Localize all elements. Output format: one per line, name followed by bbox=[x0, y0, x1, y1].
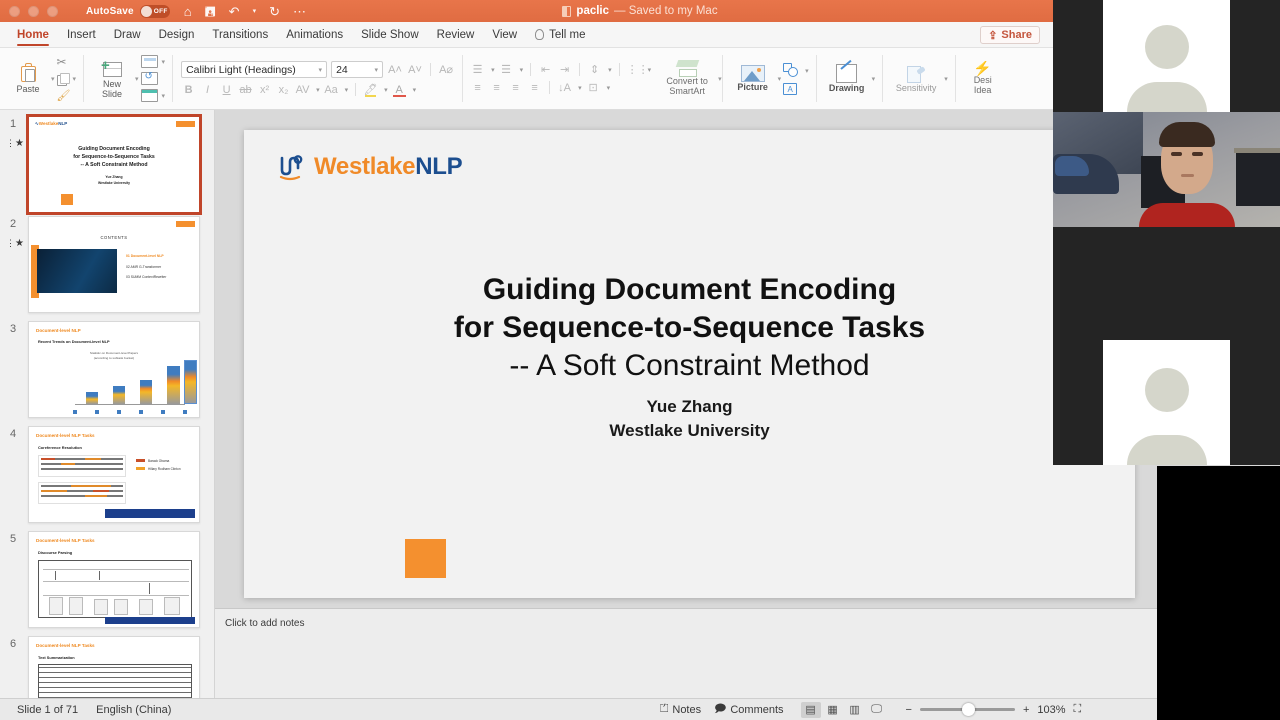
language-indicator[interactable]: English (China) bbox=[96, 704, 171, 716]
avatar-body-icon bbox=[1127, 82, 1207, 112]
participant-2-mouth bbox=[1181, 174, 1194, 177]
slide-number-6: 6 bbox=[0, 636, 26, 650]
picture-dropdown-icon[interactable]: ▾ bbox=[778, 75, 782, 83]
video-conference-panel[interactable] bbox=[1053, 0, 1280, 465]
divider bbox=[579, 63, 580, 76]
autosave-state: OFF bbox=[154, 8, 168, 15]
normal-view-button[interactable]: ▤ bbox=[801, 702, 821, 718]
chevron-down-icon: ▾ bbox=[319, 66, 323, 74]
video-tile-participant-4[interactable] bbox=[1053, 340, 1280, 465]
design-ideas-button[interactable]: ⚡ Desi Idea bbox=[963, 61, 1003, 96]
bullet-dropdown-icon[interactable]: ▾ bbox=[491, 66, 495, 74]
notes-icon: ⏍ bbox=[660, 703, 668, 716]
thumb-1-title-3: -- A Soft Constraint Method bbox=[29, 161, 199, 169]
slide-thumbnail-4[interactable]: Document-level NLP Tasks Coreference Res… bbox=[28, 426, 200, 523]
text-box-button[interactable]: A bbox=[783, 83, 809, 95]
drawing-label: Drawing bbox=[829, 83, 865, 93]
westlake-logo-icon bbox=[277, 152, 307, 182]
character-spacing-button[interactable]: AV bbox=[295, 84, 310, 96]
shapes-dropdown-icon[interactable]: ▾ bbox=[805, 67, 809, 75]
smartart-icon bbox=[675, 60, 700, 77]
participant-2-eye-right bbox=[1192, 152, 1203, 156]
toggle-knob bbox=[141, 6, 152, 17]
new-slide-dropdown-icon[interactable]: ▾ bbox=[135, 75, 139, 83]
convert-label-1: Convert to bbox=[666, 76, 708, 86]
video-tile-participant-1[interactable] bbox=[1053, 0, 1280, 112]
slide-author-affiliation: Westlake University bbox=[244, 419, 1135, 443]
thumbnail-row-5[interactable]: 5 Document-level NLP Tasks Discourse Par… bbox=[0, 525, 214, 630]
drawing-icon bbox=[836, 64, 857, 83]
slide-number-5: 5 bbox=[0, 531, 26, 545]
design-ideas-label-2: Idea bbox=[974, 85, 992, 95]
thumb-3-header: Document-level NLP bbox=[36, 328, 81, 333]
layout-button[interactable]: ▾ bbox=[141, 55, 166, 68]
slide-author-name: Yue Zhang bbox=[244, 395, 1135, 419]
drawing-button[interactable]: Drawing bbox=[824, 64, 870, 93]
minimize-window-button[interactable] bbox=[28, 6, 39, 17]
paragraph-row-2: ≡ ≡ ≡ ≡ ↓A ▾ ⊡ ▾ bbox=[470, 81, 651, 94]
fit-to-window-button[interactable]: ⛶ bbox=[1074, 703, 1082, 716]
design-ideas-label-1: Desi bbox=[974, 75, 992, 85]
zoom-out-button[interactable]: − bbox=[906, 704, 912, 716]
thumb-2-image bbox=[37, 249, 117, 293]
quick-access-toolbar: ⌂ 🖪 ↶ ▾ ↻ ⋯ bbox=[184, 5, 306, 18]
slide-title-line-1: Guiding Document Encoding bbox=[244, 271, 1135, 309]
slide-mini-buttons: ▾ ▾ bbox=[141, 55, 166, 102]
notes-button[interactable]: ⏍ Notes bbox=[660, 703, 701, 716]
new-slide-label-2: Slide bbox=[102, 89, 122, 99]
divider bbox=[619, 63, 620, 76]
slide-2-animation-marks: ⋮★ bbox=[6, 238, 24, 249]
new-slide-button[interactable]: + NewSlide bbox=[91, 58, 133, 99]
clear-formatting-button[interactable]: A⌀ bbox=[438, 63, 454, 76]
format-painter-button[interactable]: 🖌 bbox=[57, 89, 77, 102]
sensitivity-dropdown-icon[interactable]: ▾ bbox=[944, 75, 948, 83]
paragraph-row-1: ☰ ▾ ☰ ▾ ⇤ ⇥ ⇕ ▾ ⋮⋮ ▾ bbox=[470, 63, 651, 76]
autosave-toggle[interactable]: OFF bbox=[140, 5, 170, 18]
notes-placeholder: Click to add notes bbox=[225, 618, 305, 629]
justify-button[interactable]: ≡ bbox=[527, 82, 542, 94]
tell-me-label: Tell me bbox=[549, 29, 585, 41]
presenter-view-button[interactable]: 🖵 bbox=[867, 702, 887, 718]
paragraph-group: ☰ ▾ ☰ ▾ ⇤ ⇥ ⇕ ▾ ⋮⋮ ▾ ≡ ≡ ≡ ≡ ↓A bbox=[463, 48, 658, 109]
avatar-head-icon bbox=[1145, 368, 1189, 412]
text-direction-dropdown-icon[interactable]: ▾ bbox=[578, 84, 582, 92]
participant-2-eye-left bbox=[1171, 152, 1182, 156]
superscript-button[interactable]: x² bbox=[257, 84, 272, 96]
clipboard-mini-buttons: ✂ ▾ 🖌 bbox=[57, 55, 77, 102]
thumb-5-tree-diagram bbox=[38, 560, 192, 618]
zoom-control[interactable]: − + 103% ⛶ bbox=[906, 703, 1082, 716]
slides-group: + NewSlide ▾ ▾ ▾ bbox=[84, 48, 172, 109]
document-save-status: — Saved to my Mac bbox=[614, 5, 718, 17]
divider bbox=[549, 81, 550, 94]
autosave-control[interactable]: AutoSave OFF bbox=[86, 5, 170, 18]
underline-button[interactable]: U bbox=[219, 84, 234, 96]
thumb-2-item-1: 01 Document-level NLP bbox=[126, 251, 166, 262]
sensitivity-icon bbox=[907, 65, 926, 83]
thumb-6-header: Document-level NLP Tasks bbox=[36, 643, 95, 648]
slide-number-4: 4 bbox=[0, 426, 26, 440]
align-right-button[interactable]: ≡ bbox=[508, 82, 523, 94]
thumb-2-item-3: 03 SUMM ContextRewriter bbox=[126, 272, 166, 283]
text-box-icon: A bbox=[783, 83, 797, 95]
status-left: Slide 1 of 71 English (China) bbox=[17, 704, 171, 716]
avatar-placeholder-4 bbox=[1103, 340, 1230, 465]
columns-button[interactable]: ⋮⋮ bbox=[627, 63, 642, 76]
reset-icon bbox=[141, 72, 158, 85]
picture-icon bbox=[741, 65, 765, 82]
slide-number-2: 2 bbox=[0, 216, 26, 230]
notes-button-label: Notes bbox=[672, 704, 701, 716]
font-group: Calibri Light (Headings) ▾ 24 ▾ A˄ A˅ A⌀… bbox=[173, 48, 462, 109]
line-spacing-dropdown-icon[interactable]: ▾ bbox=[608, 66, 612, 74]
transition-icon: ⋮ bbox=[6, 138, 15, 148]
thumb-1-accent-bl bbox=[61, 194, 73, 205]
thumbnail-row-2[interactable]: 2 ⋮★ CONTENTS 01 Document-level NLP 02 A… bbox=[0, 210, 214, 315]
font-color-dropdown-icon[interactable]: ▾ bbox=[413, 86, 417, 94]
participant-2-shirt bbox=[1139, 203, 1235, 227]
paste-dropdown-icon[interactable]: ▾ bbox=[51, 75, 55, 83]
columns-dropdown-icon[interactable]: ▾ bbox=[648, 66, 652, 74]
participant-2-hair bbox=[1159, 122, 1215, 147]
thumb-6-text-block bbox=[38, 664, 192, 698]
bullet-list-button[interactable]: ☰ bbox=[470, 63, 485, 76]
slide-title-line-3: -- A Soft Constraint Method bbox=[244, 347, 1135, 385]
slide-title[interactable]: Guiding Document Encoding for Sequence-t… bbox=[244, 271, 1135, 385]
share-button[interactable]: ⇪ Share bbox=[980, 26, 1040, 44]
italic-button[interactable]: I bbox=[200, 84, 215, 96]
sensitivity-group: Sensitivity ▾ bbox=[883, 48, 955, 109]
character-spacing-dropdown-icon[interactable]: ▾ bbox=[316, 86, 320, 94]
new-slide-icon: + bbox=[101, 58, 123, 78]
bold-button[interactable]: B bbox=[181, 84, 196, 96]
thumb-1-title-1: Guiding Document Encoding bbox=[29, 145, 199, 153]
logo-text-westlake: Westlake bbox=[314, 153, 415, 180]
notes-pane[interactable]: Click to add notes bbox=[215, 608, 1280, 698]
reset-button[interactable] bbox=[141, 72, 166, 85]
align-text-button[interactable]: ⊡ bbox=[586, 81, 601, 94]
thumb-5-header: Document-level NLP Tasks bbox=[36, 538, 95, 543]
thumb-2-item-2: 02 AMR G-Transformer bbox=[126, 262, 166, 273]
cut-button[interactable]: ✂ bbox=[57, 55, 77, 69]
avatar-body-icon bbox=[1127, 435, 1207, 465]
tab-review[interactable]: Review bbox=[428, 22, 484, 48]
tab-tell-me[interactable]: Tell me bbox=[526, 22, 594, 48]
share-label: Share bbox=[1001, 29, 1032, 41]
section-dropdown-icon[interactable]: ▾ bbox=[162, 92, 166, 100]
zoom-slider[interactable] bbox=[920, 708, 1015, 711]
avatar-placeholder-1 bbox=[1103, 0, 1230, 112]
slide-1-animation-marks: ⋮★ bbox=[6, 138, 24, 149]
font-color-button[interactable]: A bbox=[392, 84, 407, 96]
thumb-4-legend-2: Hillary Rodham Clinton bbox=[148, 467, 181, 471]
tab-insert[interactable]: Insert bbox=[58, 22, 105, 48]
text-direction-button[interactable]: ↓A bbox=[557, 82, 572, 94]
slide-logo: WestlakeNLP bbox=[277, 152, 462, 182]
transition-icon: ⋮ bbox=[6, 238, 15, 248]
thumb-1-accent-tr bbox=[176, 121, 195, 127]
layout-icon bbox=[141, 55, 158, 68]
thumb-4-text-box-2 bbox=[38, 482, 126, 504]
sensitivity-button[interactable]: Sensitivity bbox=[890, 65, 942, 93]
tab-view[interactable]: View bbox=[483, 22, 526, 48]
undo-icon[interactable]: ↶ bbox=[229, 5, 240, 18]
thumb-2-accent-tr bbox=[176, 221, 195, 227]
tab-transitions[interactable]: Transitions bbox=[203, 22, 277, 48]
paste-label: Paste bbox=[16, 85, 39, 94]
slide-number-3: 3 bbox=[0, 321, 26, 335]
thumbnail-row-4[interactable]: 4 Document-level NLP Tasks Coreference R… bbox=[0, 420, 214, 525]
more-options-icon[interactable]: ⋯ bbox=[293, 5, 306, 18]
slide-accent-bottom-left bbox=[405, 539, 446, 578]
convert-label-2: SmartArt bbox=[669, 86, 705, 96]
copy-dropdown-icon[interactable]: ▾ bbox=[73, 75, 77, 83]
save-icon[interactable]: 🖪 bbox=[205, 5, 216, 18]
slide-thumbnail-pane[interactable]: 1 ⋮★ ∿WestlakeNLP Guiding Document Encod… bbox=[0, 110, 215, 698]
insert-group: Picture ▾ ▾ A bbox=[723, 48, 816, 109]
tab-slide-show[interactable]: Slide Show bbox=[352, 22, 428, 48]
slide-thumbnail-3[interactable]: Document-level NLP Recent Trends on Docu… bbox=[28, 321, 200, 418]
thumb-6-subheader: Text Summarization bbox=[38, 655, 75, 660]
star-icon: ★ bbox=[15, 138, 24, 149]
slide-thumbnail-1[interactable]: ∿WestlakeNLP Guiding Document Encoding f… bbox=[28, 116, 200, 213]
redo-icon[interactable]: ↻ bbox=[269, 5, 280, 18]
shapes-button[interactable]: ▾ bbox=[783, 62, 809, 79]
paintbrush-icon: 🖌 bbox=[57, 89, 71, 102]
maximize-window-button[interactable] bbox=[47, 6, 58, 17]
line-spacing-button[interactable]: ⇕ bbox=[587, 63, 602, 76]
chevron-down-icon: ▾ bbox=[375, 66, 379, 74]
undo-dropdown-icon[interactable]: ▾ bbox=[253, 8, 257, 15]
zoom-in-button[interactable]: + bbox=[1023, 704, 1029, 716]
copy-icon bbox=[57, 73, 69, 85]
slide-title-line-2: for Sequence-to-Sequence Tasks bbox=[244, 309, 1135, 347]
divider bbox=[355, 83, 356, 96]
zoom-slider-handle[interactable] bbox=[962, 703, 975, 716]
share-icon: ⇪ bbox=[988, 29, 997, 42]
align-left-button[interactable]: ≡ bbox=[470, 82, 485, 94]
view-switcher: ▤ ▦ ▥ 🖵 bbox=[801, 702, 887, 718]
slide-thumbnail-5[interactable]: Document-level NLP Tasks Discourse Parsi… bbox=[28, 531, 200, 628]
autosave-label: AutoSave bbox=[86, 6, 134, 17]
design-ideas-group: ⚡ Desi Idea bbox=[956, 48, 1010, 109]
star-icon: ★ bbox=[15, 238, 24, 249]
black-overlay-region bbox=[1157, 466, 1280, 720]
lightbulb-icon bbox=[535, 29, 544, 40]
status-bar: Slide 1 of 71 English (China) ⏍ Notes 🗩 … bbox=[0, 698, 1280, 720]
home-icon[interactable]: ⌂ bbox=[184, 5, 192, 18]
drawing-group: Drawing ▾ bbox=[817, 48, 883, 109]
slide-sorter-view-button[interactable]: ▦ bbox=[823, 702, 843, 718]
picture-button[interactable]: Picture bbox=[730, 65, 776, 92]
comment-bubble-icon: 🗩 bbox=[714, 700, 726, 719]
thumb-1-logo-orange: Westlake bbox=[39, 121, 58, 126]
paste-icon bbox=[19, 63, 38, 83]
paste-button[interactable]: Paste bbox=[7, 63, 49, 94]
text-highlight-button[interactable]: 🖊 bbox=[363, 83, 378, 96]
thumb-4-legend-1: Barack Obama bbox=[148, 459, 169, 463]
thumb-1-logo-blue: NLP bbox=[58, 121, 67, 126]
sensitivity-label: Sensitivity bbox=[896, 83, 937, 93]
drawing-dropdown-icon[interactable]: ▾ bbox=[872, 75, 876, 83]
slide-number-1: 1 bbox=[0, 116, 26, 130]
close-window-button[interactable] bbox=[9, 6, 20, 17]
font-row-2: B I U ab x² x₂ AV ▾ Aa ▾ 🖊 ▾ A ▾ bbox=[181, 83, 454, 96]
window-controls[interactable] bbox=[9, 6, 58, 17]
status-right: ⏍ Notes 🗩 Comments ▤ ▦ ▥ 🖵 − + 103% ⛶ bbox=[660, 700, 1081, 719]
font-size-select[interactable]: 24 ▾ bbox=[331, 61, 383, 78]
thumb-4-text-box-1 bbox=[38, 455, 126, 477]
shape-textbox-buttons: ▾ A bbox=[783, 62, 809, 95]
thumb-1-author-2: Westlake University bbox=[29, 181, 199, 187]
subscript-button[interactable]: x₂ bbox=[276, 84, 291, 96]
tab-design[interactable]: Design bbox=[150, 22, 204, 48]
thumbnail-row-3[interactable]: 3 Document-level NLP Recent Trends on Do… bbox=[0, 315, 214, 420]
thumbnail-row-1[interactable]: 1 ⋮★ ∿WestlakeNLP Guiding Document Encod… bbox=[0, 110, 214, 210]
strikethrough-button[interactable]: ab bbox=[238, 84, 253, 96]
zoom-level-label: 103% bbox=[1037, 704, 1065, 716]
copy-button[interactable]: ▾ bbox=[57, 73, 77, 85]
highlight-dropdown-icon[interactable]: ▾ bbox=[384, 86, 388, 94]
doorway-right bbox=[1236, 150, 1280, 206]
numbered-dropdown-icon[interactable]: ▾ bbox=[520, 66, 524, 74]
divider bbox=[430, 63, 431, 76]
change-case-button[interactable]: Aa bbox=[324, 84, 339, 96]
reading-view-button[interactable]: ▥ bbox=[845, 702, 865, 718]
slide-thumbnail-2[interactable]: CONTENTS 01 Document-level NLP 02 AMR G-… bbox=[28, 216, 200, 313]
door-frame bbox=[1234, 148, 1280, 153]
section-icon bbox=[141, 89, 158, 102]
video-tile-participant-2[interactable] bbox=[1053, 112, 1280, 227]
comments-button-label: Comments bbox=[730, 704, 783, 716]
numbered-list-button[interactable]: ☰ bbox=[499, 63, 514, 76]
divider bbox=[530, 63, 531, 76]
shapes-icon bbox=[783, 62, 801, 79]
font-name-select[interactable]: Calibri Light (Headings) ▾ bbox=[181, 61, 327, 78]
powerpoint-window: AutoSave OFF ⌂ 🖪 ↶ ▾ ↻ ⋯ paclic — Saved … bbox=[0, 0, 1280, 720]
current-slide[interactable]: WestlakeNLP Guiding Document Encoding fo… bbox=[244, 130, 1135, 598]
thumbnail-row-6[interactable]: 6 Document-level NLP Tasks Text Summariz… bbox=[0, 630, 214, 698]
slide-thumbnail-6[interactable]: Document-level NLP Tasks Text Summarizat… bbox=[28, 636, 200, 698]
font-size-value: 24 bbox=[336, 64, 348, 76]
font-row-1: Calibri Light (Headings) ▾ 24 ▾ A˄ A˅ A⌀ bbox=[181, 61, 454, 78]
section-button[interactable]: ▾ bbox=[141, 89, 166, 102]
document-name: paclic bbox=[576, 5, 609, 17]
picture-label: Picture bbox=[737, 82, 768, 92]
clipboard-group: Paste ▾ ✂ ▾ 🖌 bbox=[0, 48, 83, 109]
comments-button[interactable]: 🗩 Comments bbox=[714, 700, 783, 719]
logo-text-nlp: NLP bbox=[415, 153, 462, 180]
thumb-4-header: Document-level NLP Tasks bbox=[36, 433, 95, 438]
convert-to-smartart-button[interactable]: Convert to SmartArt bbox=[658, 48, 716, 109]
align-center-button[interactable]: ≡ bbox=[489, 82, 504, 94]
thumb-1-title-2: for Sequence-to-Sequence Tasks bbox=[29, 153, 199, 161]
increase-indent-button[interactable]: ⇥ bbox=[557, 63, 572, 76]
thumb-5-subheader: Discourse Parsing bbox=[38, 550, 72, 555]
slide-author-block[interactable]: Yue Zhang Westlake University bbox=[244, 395, 1135, 444]
increase-font-size-button[interactable]: A˄ bbox=[387, 64, 403, 76]
decrease-font-size-button[interactable]: A˅ bbox=[407, 64, 423, 76]
tab-animations[interactable]: Animations bbox=[277, 22, 352, 48]
thumb-4-subheader: Coreference Resolution bbox=[38, 445, 82, 450]
thumb-4-citation-bar bbox=[105, 509, 195, 518]
thumb-3-chart-title-2: (according to subtask bucket) bbox=[29, 356, 199, 361]
scissors-icon: ✂ bbox=[57, 55, 67, 69]
change-case-dropdown-icon[interactable]: ▾ bbox=[345, 86, 349, 94]
lightning-bolt-icon: ⚡ bbox=[973, 61, 992, 76]
font-name-value: Calibri Light (Headings) bbox=[186, 64, 296, 76]
slide-counter[interactable]: Slide 1 of 71 bbox=[17, 704, 78, 716]
thumb-2-heading: CONTENTS bbox=[29, 235, 199, 240]
align-text-dropdown-icon[interactable]: ▾ bbox=[607, 84, 611, 92]
layout-dropdown-icon[interactable]: ▾ bbox=[162, 58, 166, 66]
decrease-indent-button[interactable]: ⇤ bbox=[538, 63, 553, 76]
thumb-3-subheader: Recent Trends on Document-level NLP bbox=[38, 339, 110, 344]
thumb-1-logo: ∿WestlakeNLP bbox=[35, 121, 67, 127]
tab-home[interactable]: Home bbox=[8, 22, 58, 48]
document-icon bbox=[562, 6, 571, 17]
avatar-head-icon bbox=[1145, 25, 1189, 69]
tab-draw[interactable]: Draw bbox=[105, 22, 150, 48]
thumb-5-citation-bar bbox=[105, 617, 195, 624]
